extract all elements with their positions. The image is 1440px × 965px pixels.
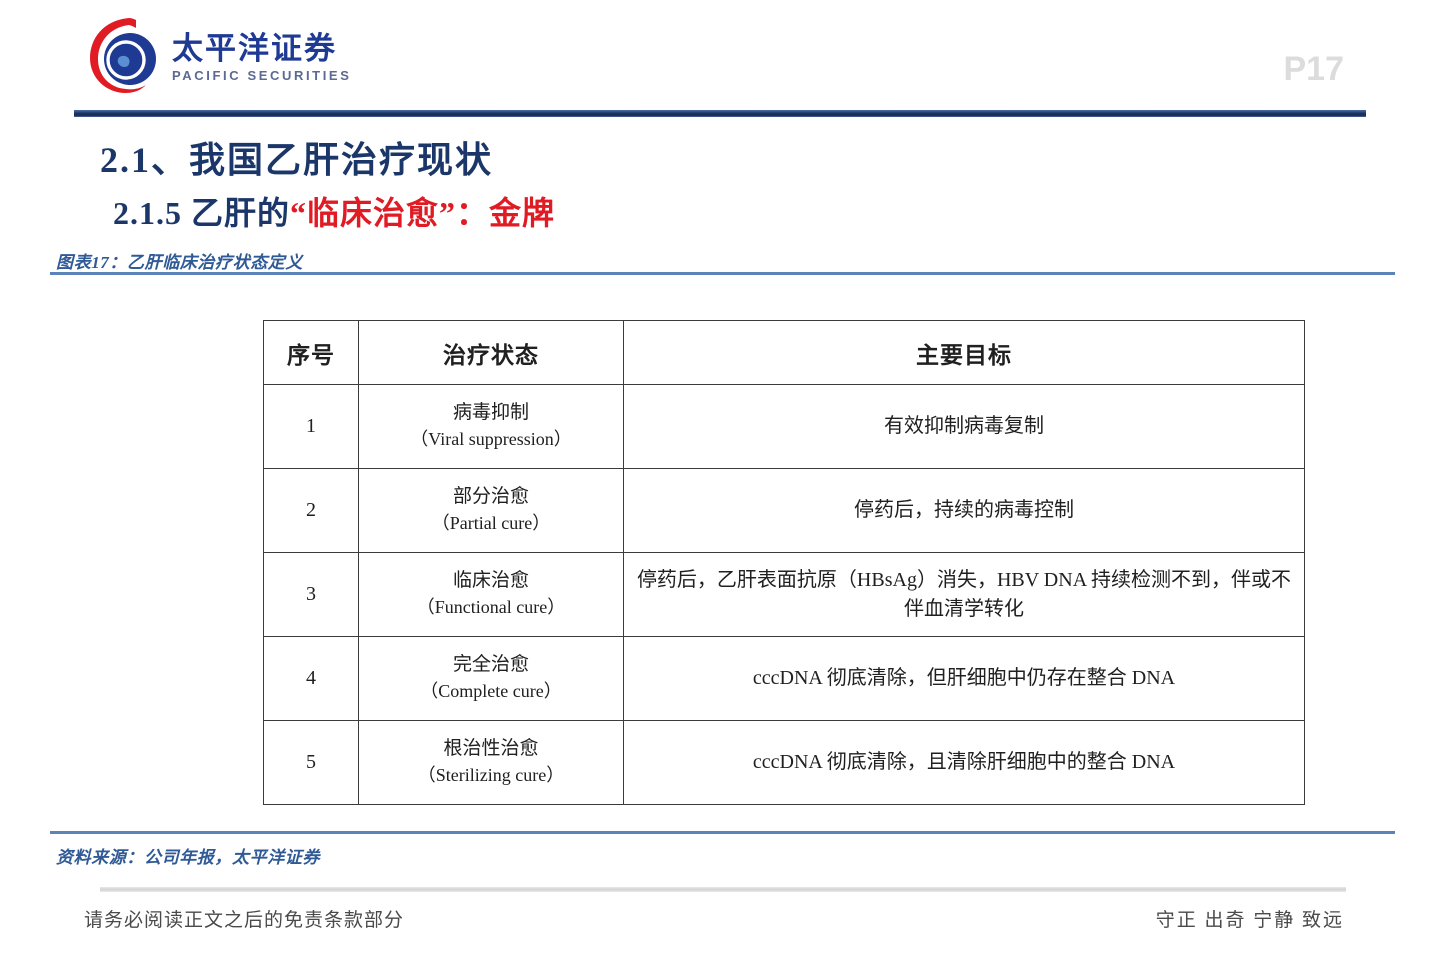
state-name-cn: 部分治愈 xyxy=(371,484,611,511)
state-name-cn: 临床治愈 xyxy=(371,568,611,595)
column-header-goal: 主要目标 xyxy=(624,321,1305,385)
definition-table-wrapper: 序号 治疗状态 主要目标 1 病毒抑制 （Viral suppression） … xyxy=(263,320,1304,805)
cell-goal: 停药后，持续的病毒控制 xyxy=(624,469,1305,553)
table-row: 5 根治性治愈 （Sterilizing cure） cccDNA 彻底清除，且… xyxy=(264,721,1305,805)
cell-index: 2 xyxy=(264,469,359,553)
table-header-row: 序号 治疗状态 主要目标 xyxy=(264,321,1305,385)
state-name-cn: 完全治愈 xyxy=(371,652,611,679)
section-title: 2.1、我国乙肝治疗现状 xyxy=(100,131,493,183)
cell-index: 4 xyxy=(264,637,359,721)
subsection-title-red-part: “临床治愈”：金牌 xyxy=(290,195,555,231)
table-row: 1 病毒抑制 （Viral suppression） 有效抑制病毒复制 xyxy=(264,385,1305,469)
cell-goal: 停药后，乙肝表面抗原（HBsAg）消失，HBV DNA 持续检测不到，伴或不伴血… xyxy=(624,553,1305,637)
state-name-en: （Functional cure） xyxy=(371,595,611,621)
cell-state: 根治性治愈 （Sterilizing cure） xyxy=(359,721,624,805)
state-name-en: （Complete cure） xyxy=(371,679,611,705)
cell-state: 临床治愈 （Functional cure） xyxy=(359,553,624,637)
state-name-en: （Partial cure） xyxy=(371,511,611,537)
slide-page: 太平洋证券 PACIFIC SECURITIES P17 2.1、我国乙肝治疗现… xyxy=(0,0,1440,965)
table-row: 3 临床治愈 （Functional cure） 停药后，乙肝表面抗原（HBsA… xyxy=(264,553,1305,637)
footer-slogan: 守正 出奇 宁静 致远 xyxy=(1156,905,1344,932)
cell-state: 部分治愈 （Partial cure） xyxy=(359,469,624,553)
table-row: 2 部分治愈 （Partial cure） 停药后，持续的病毒控制 xyxy=(264,469,1305,553)
header-divider xyxy=(74,110,1366,117)
state-name-en: （Viral suppression） xyxy=(371,427,611,453)
cell-goal: 有效抑制病毒复制 xyxy=(624,385,1305,469)
source-note: 资料来源：公司年报，太平洋证券 xyxy=(56,843,320,868)
slide-header: 太平洋证券 PACIFIC SECURITIES P17 xyxy=(0,0,1440,120)
source-divider xyxy=(50,831,1395,834)
brand-wordmark: 太平洋证券 PACIFIC SECURITIES xyxy=(172,23,351,86)
state-name-en: （Sterilizing cure） xyxy=(371,763,611,789)
cell-index: 5 xyxy=(264,721,359,805)
page-number: P17 xyxy=(1284,52,1345,86)
definition-table: 序号 治疗状态 主要目标 1 病毒抑制 （Viral suppression） … xyxy=(263,320,1305,805)
table-row: 4 完全治愈 （Complete cure） cccDNA 彻底清除，但肝细胞中… xyxy=(264,637,1305,721)
cell-goal: cccDNA 彻底清除，且清除肝细胞中的整合 DNA xyxy=(624,721,1305,805)
brand-name-cn: 太平洋证券 xyxy=(172,33,351,66)
table-header: 序号 治疗状态 主要目标 xyxy=(264,321,1305,385)
brand-name-en: PACIFIC SECURITIES xyxy=(172,67,351,85)
figure-caption: 图表17：乙肝临床治疗状态定义 xyxy=(56,248,303,273)
caption-divider xyxy=(50,272,1395,275)
cell-index: 1 xyxy=(264,385,359,469)
cell-state: 完全治愈 （Complete cure） xyxy=(359,637,624,721)
cell-goal: cccDNA 彻底清除，但肝细胞中仍存在整合 DNA xyxy=(624,637,1305,721)
state-name-cn: 病毒抑制 xyxy=(371,400,611,427)
subsection-title-navy-part: 2.1.5 乙肝的 xyxy=(113,195,290,231)
table-body: 1 病毒抑制 （Viral suppression） 有效抑制病毒复制 2 部分… xyxy=(264,385,1305,805)
column-header-state: 治疗状态 xyxy=(359,321,624,385)
subsection-title: 2.1.5 乙肝的“临床治愈”：金牌 xyxy=(113,188,555,234)
brand-logo: 太平洋证券 PACIFIC SECURITIES xyxy=(88,14,351,94)
pacific-securities-swirl-logo xyxy=(88,14,162,94)
cell-state: 病毒抑制 （Viral suppression） xyxy=(359,385,624,469)
footer-disclaimer: 请务必阅读正文之后的免责条款部分 xyxy=(84,905,404,932)
footer-divider xyxy=(100,887,1346,892)
column-header-index: 序号 xyxy=(264,321,359,385)
cell-index: 3 xyxy=(264,553,359,637)
state-name-cn: 根治性治愈 xyxy=(371,736,611,763)
